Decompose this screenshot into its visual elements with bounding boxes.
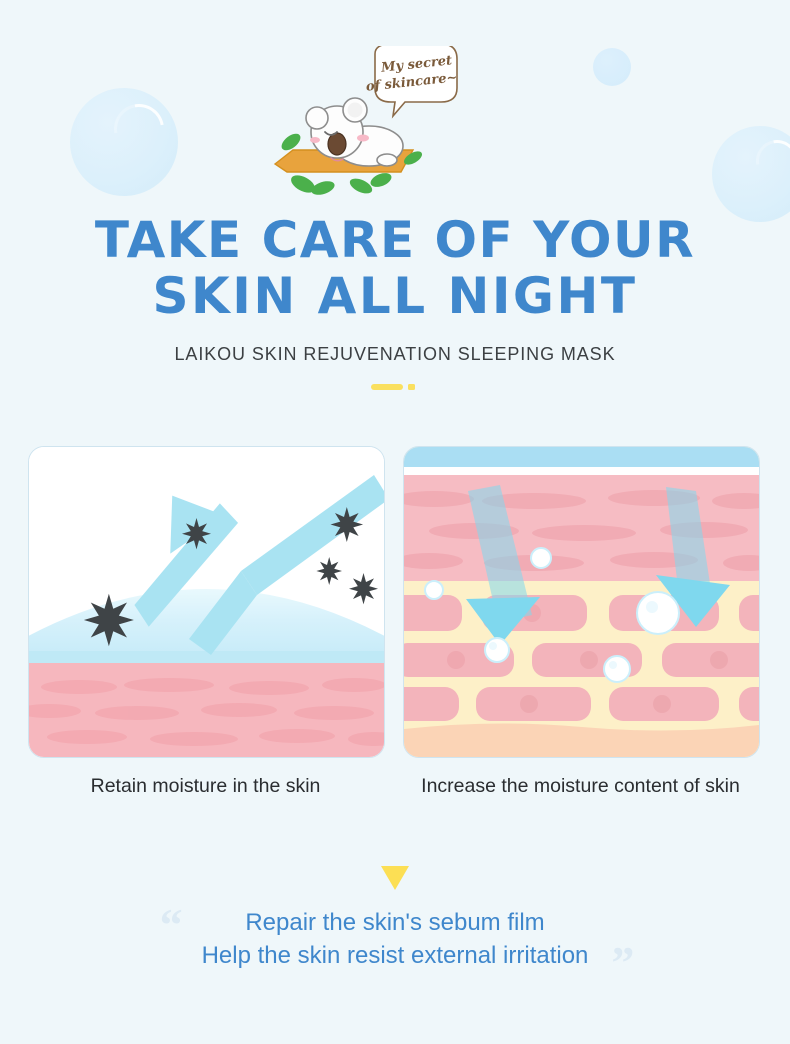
quote-close-icon: ”: [611, 940, 634, 986]
top-surface-band: [404, 447, 759, 467]
koala-blush: [357, 135, 369, 142]
quote-lines: “ Repair the skin's sebum film Help the …: [156, 906, 635, 972]
caption-retain-moisture: Retain moisture in the skin: [28, 772, 383, 800]
quote-line-2: Help the skin resist external irritation: [202, 939, 589, 972]
quote-open-icon: “: [160, 902, 183, 948]
title-line-2: SKIN ALL NIGHT: [153, 267, 638, 325]
panel-captions: Retain moisture in the skin Increase the…: [28, 772, 762, 842]
koala-ear-inner: [348, 103, 363, 118]
illustration-panels: [28, 446, 762, 756]
divider-dot: [408, 384, 415, 390]
caption-increase-moisture: Increase the moisture content of skin: [403, 772, 758, 800]
panel-increase-moisture: [403, 446, 760, 758]
header-block: TAKE CARE OF YOUR SKIN ALL NIGHT LAIKOU …: [0, 212, 790, 391]
mascot-illustration: My secret of skincare~: [0, 46, 790, 201]
title-line-1: TAKE CARE OF YOUR: [95, 211, 695, 269]
page-subtitle: LAIKOU SKIN REJUVENATION SLEEPING MASK: [0, 344, 790, 365]
divider-ornament: [371, 383, 419, 391]
page-title: TAKE CARE OF YOUR SKIN ALL NIGHT: [0, 212, 790, 324]
panel-retain-moisture: [28, 446, 385, 758]
koala-blush: [310, 137, 320, 143]
white-gap-band: [404, 467, 759, 475]
footer-quote-block: “ Repair the skin's sebum film Help the …: [0, 906, 790, 972]
koala-nose-icon: [328, 133, 346, 155]
retain-moisture-illustration: [29, 447, 384, 757]
chevron-down-triangle-icon: [381, 866, 409, 890]
increase-moisture-illustration: [404, 447, 759, 757]
quote-line-1: Repair the skin's sebum film: [202, 906, 589, 939]
sleeping-koala-icon: My secret of skincare~: [265, 46, 525, 201]
divider-bar: [371, 384, 403, 390]
skin-surface-band: [29, 651, 384, 663]
